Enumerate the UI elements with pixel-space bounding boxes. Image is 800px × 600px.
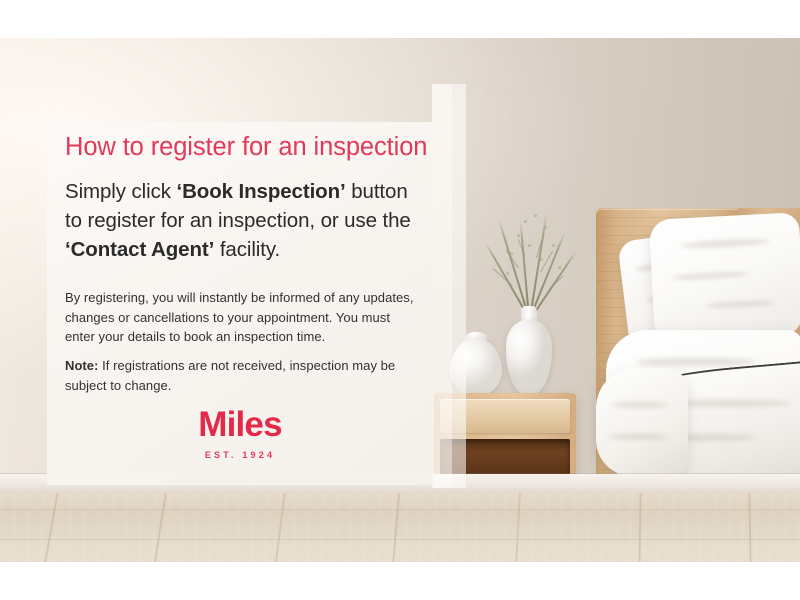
letterbox-bottom — [0, 562, 800, 600]
lede-suffix: facility. — [214, 238, 280, 261]
pillow-crease — [672, 271, 750, 281]
branch-bud — [528, 244, 531, 247]
pillow-crease — [705, 300, 775, 310]
body-paragraph: By registering, you will instantly be in… — [65, 288, 415, 347]
branch-bud — [552, 244, 555, 247]
promo-banner: How to register for an inspection Simply… — [0, 0, 800, 600]
duvet-wrinkle — [608, 434, 668, 440]
lede-prefix: Simply click — [65, 180, 176, 203]
duvet-wrinkle — [612, 402, 668, 408]
bedroom-scene-photo: How to register for an inspection Simply… — [0, 38, 800, 562]
lede-paragraph: Simply click ‘Book Inspection’ button to… — [65, 177, 421, 264]
duvet-fold — [596, 368, 688, 476]
pillow-front — [649, 212, 800, 346]
card-translucent-extension-inner — [432, 84, 452, 488]
letterbox-top — [0, 0, 800, 38]
note-label: Note: — [65, 358, 98, 373]
branch-bud — [510, 252, 513, 255]
duvet-wrinkle — [636, 358, 756, 366]
book-inspection-emphasis: ‘Book Inspection’ — [176, 180, 345, 203]
pillow-crease — [680, 238, 770, 250]
contact-agent-emphasis: ‘Contact Agent’ — [65, 238, 214, 261]
logo-established: EST. 1924 — [47, 450, 433, 461]
branch-bud — [524, 220, 527, 223]
miles-logo: Miles EST. 1924 — [47, 406, 433, 461]
note-text: If registrations are not received, inspe… — [65, 358, 395, 393]
branch-bud — [540, 258, 543, 261]
info-card: How to register for an inspection Simply… — [47, 122, 433, 485]
page-title: How to register for an inspection — [65, 133, 427, 162]
tall-vase — [506, 320, 552, 396]
branch-bud — [517, 234, 520, 237]
note-paragraph: Note: If registrations are not received,… — [65, 356, 417, 395]
branch-bud — [558, 266, 561, 269]
branch-bud — [534, 214, 537, 217]
branch-bud — [506, 272, 509, 275]
floor-grain — [0, 493, 800, 562]
branch-bud — [544, 226, 547, 229]
wood-floor — [0, 493, 800, 562]
logo-wordmark: Miles — [47, 406, 433, 444]
